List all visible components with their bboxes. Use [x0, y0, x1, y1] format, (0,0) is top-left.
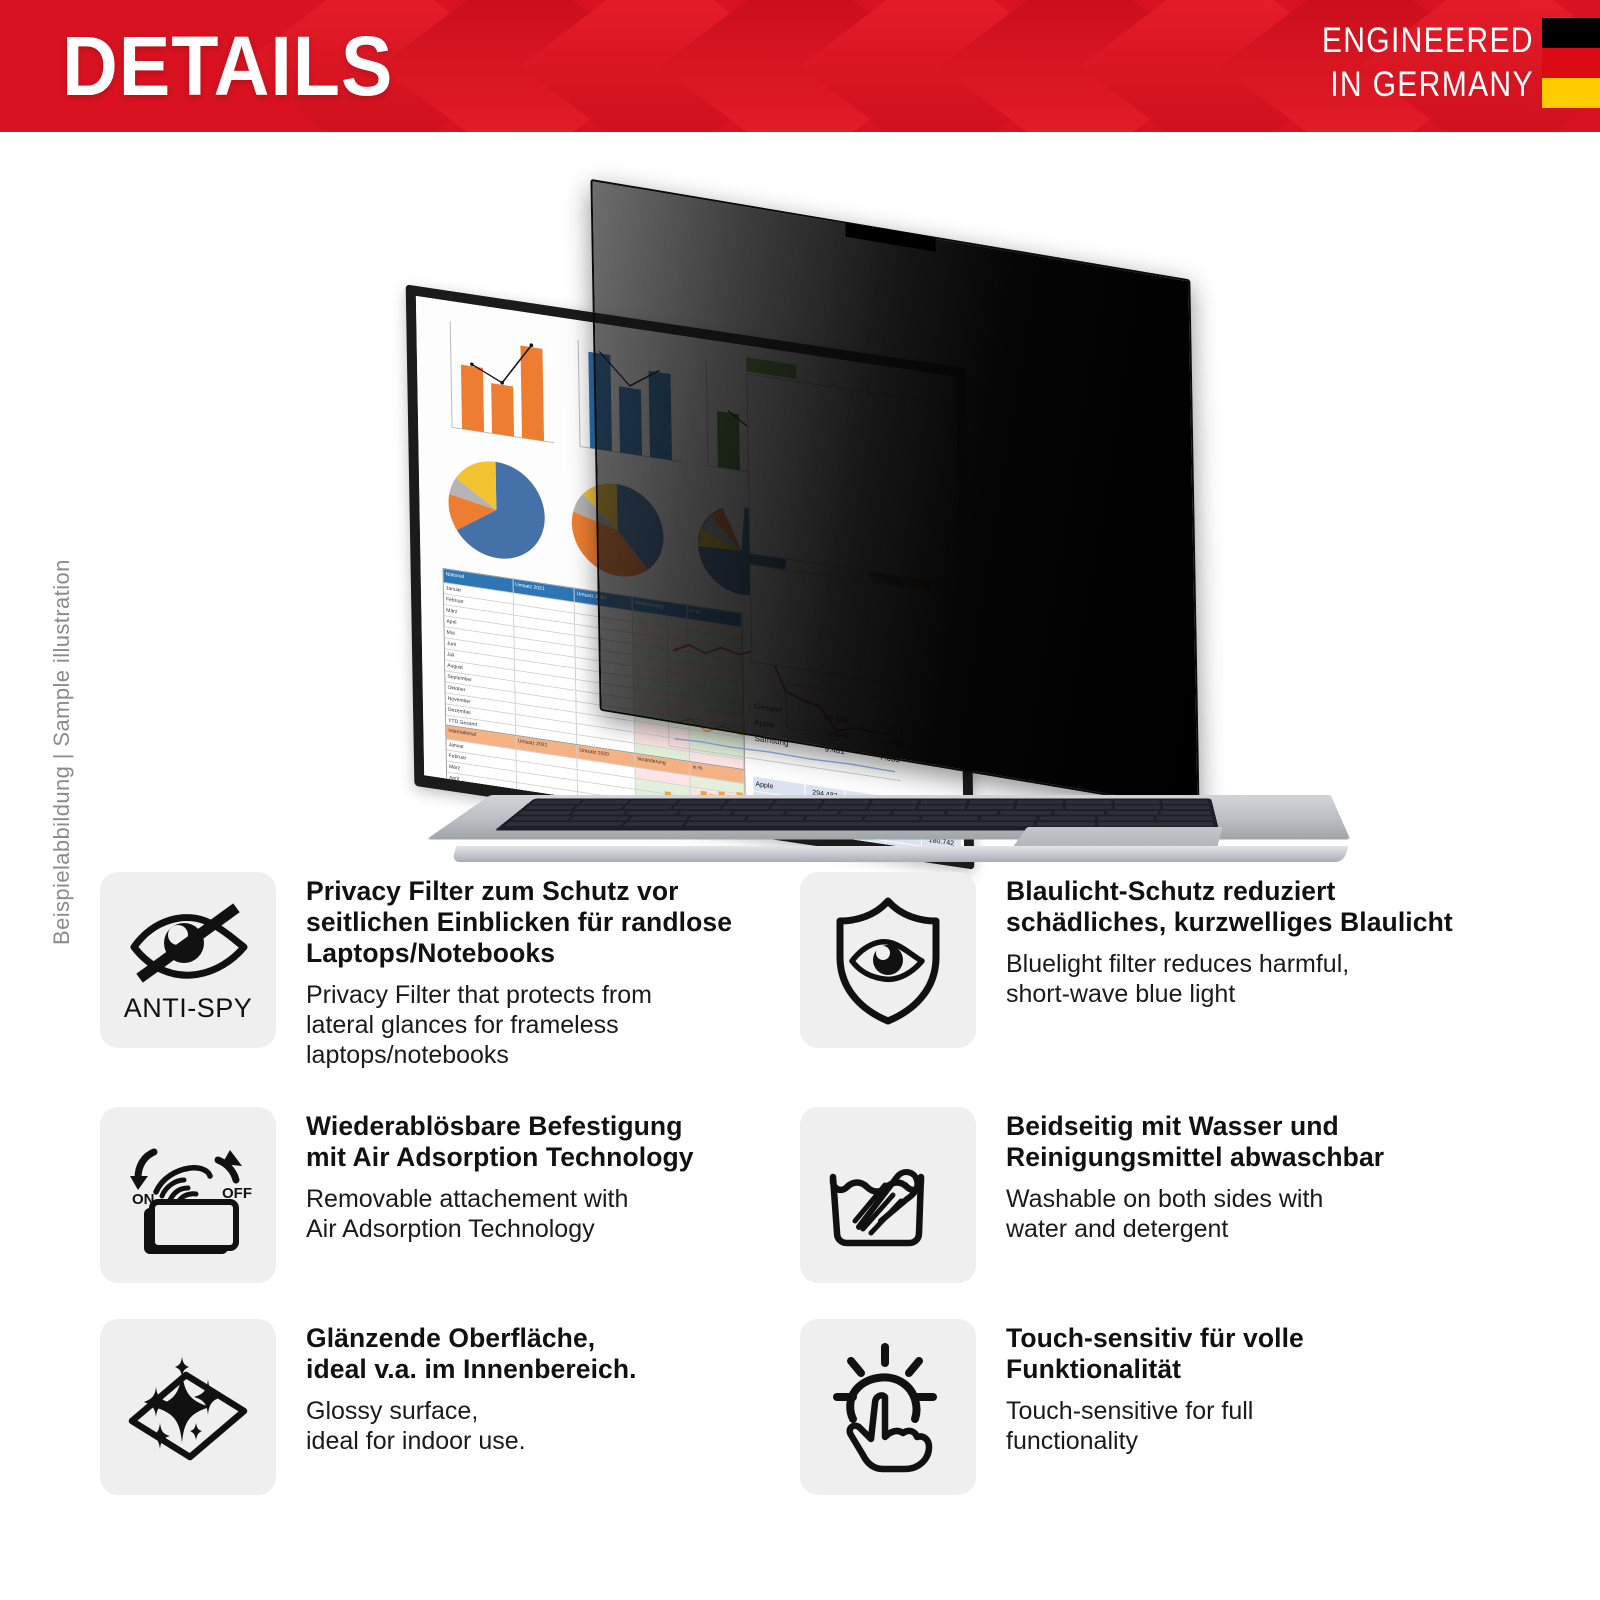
feature-item-bluelight: Blaulicht-Schutz reduziert schädliches, …	[800, 872, 1500, 1107]
hand-attach-on-off-icon: ON OFF	[118, 1130, 258, 1260]
german-flag-icon	[1542, 18, 1600, 108]
feature-item-washable: Beidseitig mit Wasser und Reinigungsmitt…	[800, 1107, 1500, 1319]
feature-subtext: Washable on both sides with water and de…	[1006, 1184, 1384, 1244]
page-title: DETAILS	[62, 14, 393, 118]
washable-icon-tile	[800, 1107, 976, 1283]
glossy-icon-tile	[100, 1319, 276, 1495]
feature-item-anti-spy: ANTI-SPY Privacy Filter zum Schutz vor s…	[100, 872, 800, 1107]
engineered-line-2: IN GERMANY	[1321, 63, 1533, 107]
touch-finger-icon	[827, 1341, 949, 1473]
feature-text-block: Beidseitig mit Wasser und Reinigungsmitt…	[976, 1107, 1384, 1244]
feature-heading: Wiederablösbare Befestigung mit Air Adso…	[306, 1111, 694, 1173]
feature-subtext: Removable attachement with Air Adsorptio…	[306, 1184, 694, 1244]
feature-text-block: Touch-sensitiv für volle Funktionalität …	[976, 1319, 1304, 1456]
sparkle-diamond-icon	[120, 1349, 256, 1465]
feature-text-block: Privacy Filter zum Schutz vor seitlichen…	[276, 872, 732, 1070]
page-header-banner: DETAILS ENGINEERED IN GERMANY	[0, 0, 1600, 132]
feature-grid: ANTI-SPY Privacy Filter zum Schutz vor s…	[0, 872, 1600, 1600]
privacy-filter-notch	[845, 223, 935, 252]
engineered-line-1: ENGINEERED	[1321, 19, 1533, 63]
feature-subtext: Glossy surface, ideal for indoor use.	[306, 1396, 637, 1456]
feature-row: ON OFF Wiederablösbare Befestigung mit A…	[100, 1107, 1500, 1319]
flag-band-red	[1542, 48, 1600, 78]
hand-wash-basin-icon	[823, 1137, 953, 1253]
bluelight-icon-tile	[800, 872, 976, 1048]
flag-band-black	[1542, 18, 1600, 48]
feature-item-touch: Touch-sensitiv für volle Funktionalität …	[800, 1319, 1500, 1534]
feature-text-block: Wiederablösbare Befestigung mit Air Adso…	[276, 1107, 694, 1244]
feature-subtext: Privacy Filter that protects from latera…	[306, 980, 732, 1070]
hero-product-image: Beispielabbildung | Sample illustration	[0, 132, 1600, 872]
engineered-in-germany-badge: ENGINEERED IN GERMANY	[1286, 18, 1600, 108]
laptop-base-edge	[452, 846, 1349, 862]
anti-spy-icon-tile: ANTI-SPY	[100, 872, 276, 1048]
engineered-text: ENGINEERED IN GERMANY	[1321, 19, 1542, 107]
feature-heading: Beidseitig mit Wasser und Reinigungsmitt…	[1006, 1111, 1384, 1173]
privacy-filter-panel	[590, 179, 1199, 811]
feature-item-removable: ON OFF Wiederablösbare Befestigung mit A…	[100, 1107, 800, 1319]
feature-subtext: Bluelight filter reduces harmful, short-…	[1006, 949, 1453, 1009]
laptop-trackpad	[1012, 827, 1222, 848]
flag-band-gold	[1542, 78, 1600, 108]
removable-icon-tile: ON OFF	[100, 1107, 276, 1283]
laptop-illustration: National Umsatz 2021 Umsatz 2020 Verände…	[400, 172, 1400, 872]
feature-heading: Glänzende Oberfläche, ideal v.a. im Inne…	[306, 1323, 637, 1385]
shield-eye-icon	[830, 895, 946, 1025]
feature-text-block: Glänzende Oberfläche, ideal v.a. im Inne…	[276, 1319, 637, 1456]
laptop-base	[420, 772, 1360, 882]
feature-subtext: Touch-sensitive for full functionality	[1006, 1396, 1304, 1456]
feature-heading: Blaulicht-Schutz reduziert schädliches, …	[1006, 876, 1453, 938]
laptop-keyboard	[494, 799, 1219, 831]
touch-icon-tile	[800, 1319, 976, 1495]
anti-spy-label: ANTI-SPY	[124, 993, 253, 1024]
feature-item-glossy: Glänzende Oberfläche, ideal v.a. im Inne…	[100, 1319, 800, 1534]
feature-row: Glänzende Oberfläche, ideal v.a. im Inne…	[100, 1319, 1500, 1534]
feature-text-block: Blaulicht-Schutz reduziert schädliches, …	[976, 872, 1453, 1009]
feature-heading: Touch-sensitiv für volle Funktionalität	[1006, 1323, 1304, 1385]
feature-row: ANTI-SPY Privacy Filter zum Schutz vor s…	[100, 872, 1500, 1107]
feature-heading: Privacy Filter zum Schutz vor seitlichen…	[306, 876, 732, 969]
eye-slash-icon	[128, 897, 248, 991]
